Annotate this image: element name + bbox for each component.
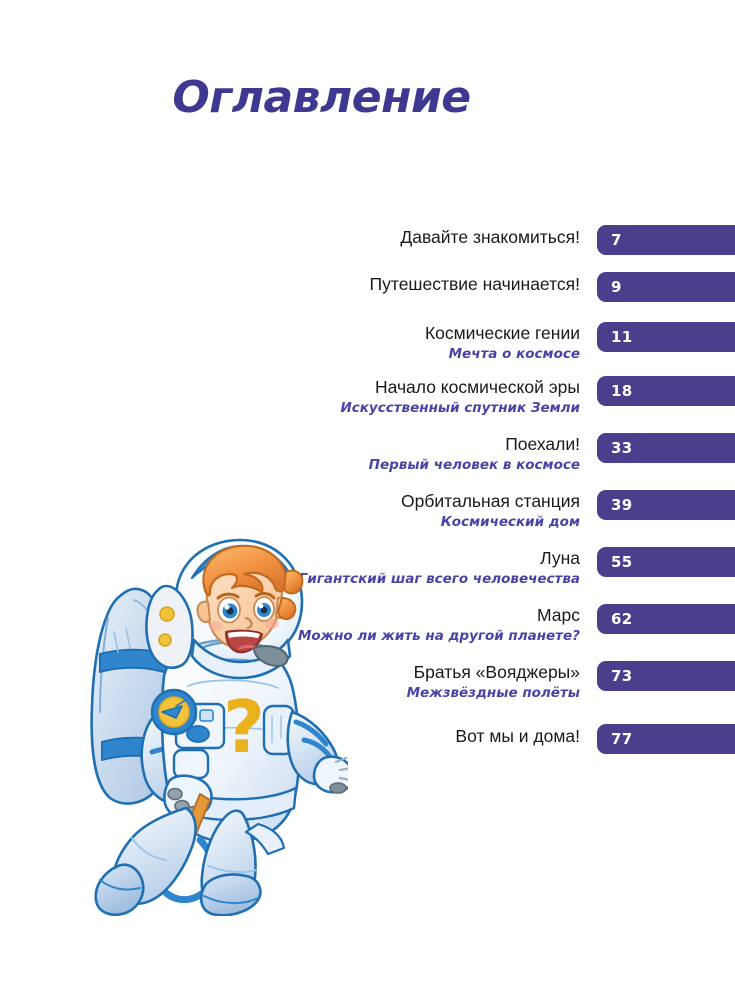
toc-entry-subtitle: Искусственный спутник Земли [150,399,580,417]
right-glove-icon [314,757,348,793]
toc-page-number: 55 [611,553,632,571]
toc-page: Оглавление Давайте знакомиться! 7 Путеше… [0,0,735,1000]
toc-entry-text: Орбитальная станция Космический дом [150,491,580,531]
toc-entry-subtitle: Космический дом [150,513,580,531]
page-title: Оглавление [0,72,735,123]
toc-page-pill[interactable]: 77 [597,724,735,754]
toc-page-pill[interactable]: 7 [597,225,735,255]
toc-entry-title: Орбитальная станция [150,491,580,512]
toc-page-number: 7 [611,231,622,249]
toc-entry-subtitle: Первый человек в космосе [150,456,580,474]
toc-entry-text: Поехали! Первый человек в космосе [150,434,580,474]
toc-entry-title: Космические гении [150,323,580,344]
toc-entry-title: Поехали! [150,434,580,455]
toc-entry-title: Начало космической эры [150,377,580,398]
chest-question-mark-icon: ? [223,685,265,769]
toc-page-pill[interactable]: 73 [597,661,735,691]
toc-entry-text: Начало космической эры Искусственный спу… [150,377,580,417]
toc-page-number: 39 [611,496,632,514]
toc-page-number: 77 [611,730,632,748]
toc-entry-subtitle: Мечта о космосе [150,345,580,363]
svg-text:?: ? [223,685,265,769]
toc-page-number: 33 [611,439,632,457]
astronaut-illustration: ? [48,536,348,916]
toc-entry-text: Путешествие начинается! [150,274,580,295]
toc-entry-text: Давайте знакомиться! [150,227,580,248]
toc-page-pill[interactable]: 9 [597,272,735,302]
toc-page-pill[interactable]: 62 [597,604,735,634]
toc-entry-title: Путешествие начинается! [150,274,580,295]
toc-page-pill[interactable]: 11 [597,322,735,352]
toc-page-pill[interactable]: 18 [597,376,735,406]
toc-page-number: 18 [611,382,632,400]
toc-page-number: 73 [611,667,632,685]
toc-page-number: 62 [611,610,632,628]
toc-page-number: 11 [611,328,632,346]
toc-page-pill[interactable]: 39 [597,490,735,520]
toc-page-pill[interactable]: 55 [597,547,735,577]
shoulder-badge-icon [152,690,196,734]
toc-page-pill[interactable]: 33 [597,433,735,463]
toc-page-number: 9 [611,278,622,296]
toc-entry-title: Давайте знакомиться! [150,227,580,248]
toc-entry-text: Космические гении Мечта о космосе [150,323,580,363]
